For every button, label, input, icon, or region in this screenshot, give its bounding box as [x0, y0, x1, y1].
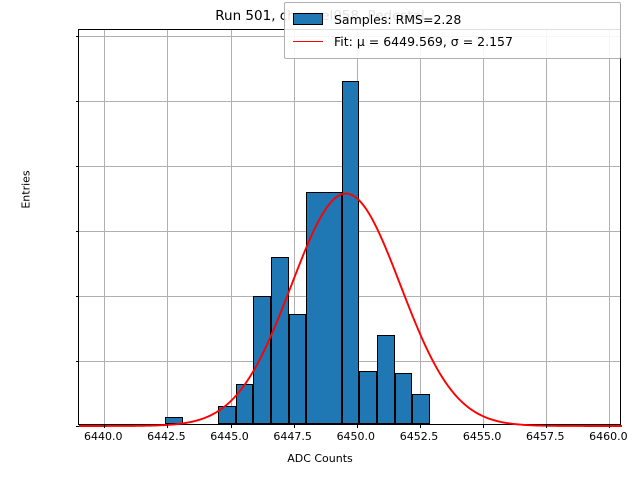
- y-tick-mark: [76, 426, 80, 427]
- legend: Samples: RMS=2.28 Fit: μ = 6449.569, σ =…: [284, 2, 621, 59]
- x-tick-label: 6455.0: [447, 430, 517, 443]
- x-tick-label: 6440.0: [68, 430, 138, 443]
- y-tick-mark: [76, 361, 80, 362]
- x-tick-mark: [104, 424, 105, 428]
- x-tick-mark: [546, 424, 547, 428]
- x-tick-label: 6457.5: [510, 430, 580, 443]
- y-tick-mark: [76, 101, 80, 102]
- y-tick-mark: [76, 296, 80, 297]
- y-tick-mark: [76, 231, 80, 232]
- figure: Run 501, channel058, Pedestal Entries AD…: [0, 0, 640, 480]
- legend-label-fit: Fit: μ = 6449.569, σ = 2.157: [334, 34, 513, 49]
- legend-patch-icon: [293, 13, 323, 25]
- x-tick-mark: [609, 424, 610, 428]
- x-tick-label: 6450.0: [321, 430, 391, 443]
- x-tick-mark: [483, 424, 484, 428]
- x-tick-label: 6442.5: [131, 430, 201, 443]
- x-tick-mark: [420, 424, 421, 428]
- y-tick-mark: [76, 166, 80, 167]
- y-axis-label: Entries: [20, 140, 33, 240]
- x-tick-label: 6445.0: [195, 430, 265, 443]
- x-axis-label: ADC Counts: [0, 452, 640, 465]
- x-tick-label: 6460.0: [573, 430, 640, 443]
- legend-item-fit: Fit: μ = 6449.569, σ = 2.157: [293, 30, 612, 52]
- x-tick-mark: [357, 424, 358, 428]
- fit-curve: [79, 30, 622, 426]
- legend-item-samples: Samples: RMS=2.28: [293, 8, 612, 30]
- x-tick-label: 6452.5: [384, 430, 454, 443]
- x-tick-mark: [167, 424, 168, 428]
- x-tick-label: 6447.5: [258, 430, 328, 443]
- plot-area: [78, 29, 621, 425]
- x-tick-mark: [294, 424, 295, 428]
- y-tick-mark: [76, 36, 80, 37]
- legend-label-samples: Samples: RMS=2.28: [334, 12, 461, 27]
- x-tick-mark: [231, 424, 232, 428]
- legend-line-icon: [293, 41, 323, 42]
